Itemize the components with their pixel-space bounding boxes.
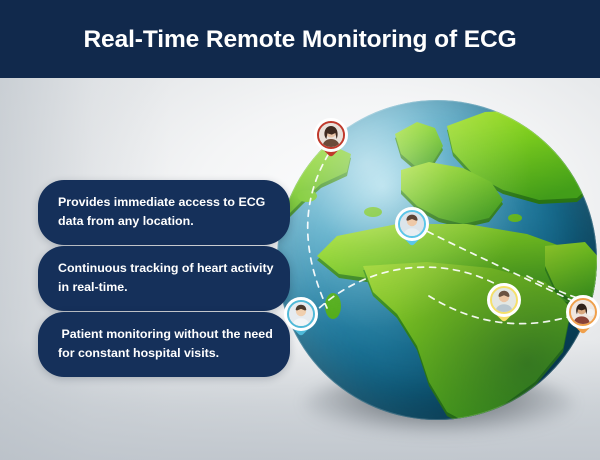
feature-item-tracking[interactable]: Continuous tracking of heart activity in… xyxy=(38,246,290,311)
globe-illustration xyxy=(277,100,597,420)
feature-text-line2: for constant hospital visits. xyxy=(58,344,272,363)
land-island-a xyxy=(364,207,382,217)
avatar xyxy=(400,212,424,236)
avatar xyxy=(319,123,343,147)
feature-text-line1: Patient monitoring without the need xyxy=(58,325,272,344)
feature-item-access[interactable]: Provides immediate access to ECG data fr… xyxy=(38,180,290,245)
avatar xyxy=(571,300,595,324)
pin-shape xyxy=(566,295,600,329)
land-island-d xyxy=(325,293,341,319)
slide-root: Real-Time Remote Monitoring of ECG xyxy=(0,0,600,460)
marker-north-america[interactable] xyxy=(314,118,348,160)
pin-shape xyxy=(314,118,348,152)
avatar xyxy=(492,288,516,312)
pin-shape xyxy=(284,297,318,331)
feature-text-line2: in real-time. xyxy=(58,278,272,297)
feature-text-line1: Continuous tracking of heart activity xyxy=(58,259,272,278)
feature-item-visits[interactable]: Patient monitoring without the need for … xyxy=(38,312,290,377)
feature-text-line1: Provides immediate access to ECG xyxy=(58,193,272,212)
land-island-e xyxy=(297,190,317,202)
header-bar: Real-Time Remote Monitoring of ECG xyxy=(0,0,600,78)
marker-west-africa[interactable] xyxy=(395,207,429,249)
marker-east-africa[interactable] xyxy=(566,295,600,337)
marker-atlantic[interactable] xyxy=(284,297,318,339)
pin-shape xyxy=(487,283,521,317)
marker-central-africa[interactable] xyxy=(487,283,521,325)
content-stage: Provides immediate access to ECG data fr… xyxy=(0,78,600,460)
feature-text-line2: data from any location. xyxy=(58,212,272,231)
page-title: Real-Time Remote Monitoring of ECG xyxy=(0,26,600,54)
pin-shape xyxy=(395,207,429,241)
land-island-b xyxy=(508,214,522,222)
avatar xyxy=(289,302,313,326)
